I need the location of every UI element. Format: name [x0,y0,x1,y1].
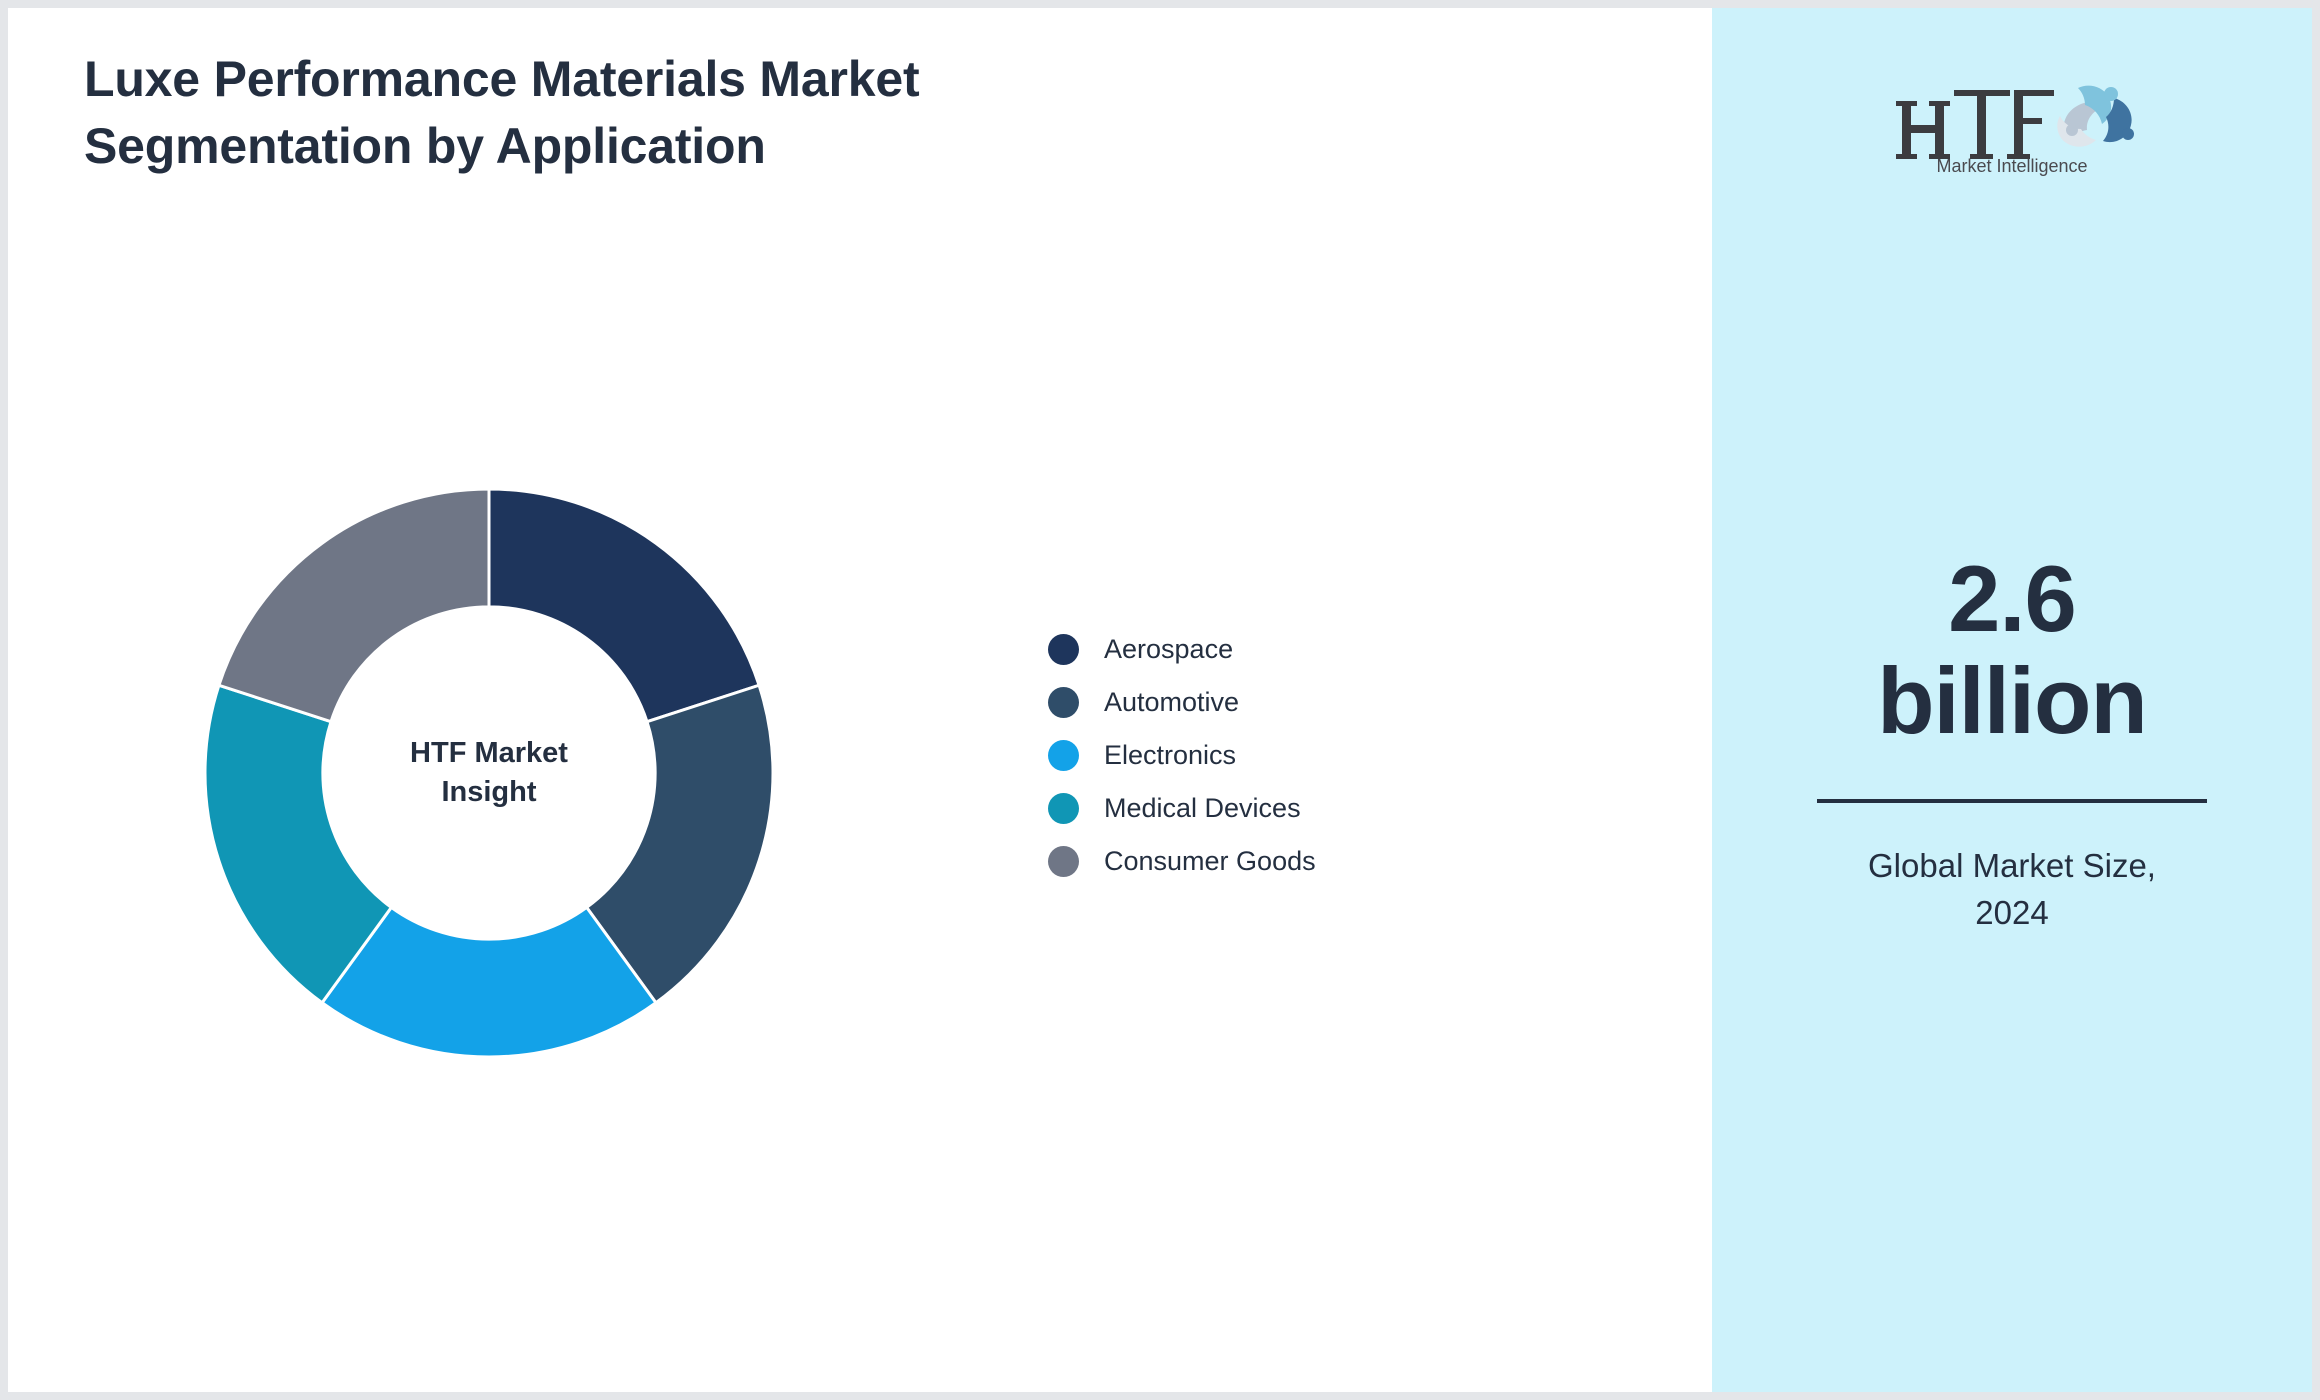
side-panel: Market Intelligence 2.6 billion Global M… [1712,8,2312,1392]
stat-divider [1817,799,2207,803]
logo-block: Market Intelligence [1712,68,2312,178]
legend-item-label: Aerospace [1104,634,1233,665]
main-panel: Luxe Performance Materials Market Segmen… [8,8,1712,1392]
infographic-card: Luxe Performance Materials Market Segmen… [8,8,2312,1392]
htf-wordmark-icon [1896,90,2054,159]
donut-chart-graphic: HTF Market Insight [201,485,777,1061]
legend-swatch-icon [1048,687,1079,718]
legend-item-label: Consumer Goods [1104,846,1316,877]
donut-slices-svg [201,485,777,1061]
legend-swatch-icon [1048,634,1079,665]
donut-slice[interactable] [219,489,489,722]
people-circle-icon [2057,86,2134,147]
legend-item[interactable]: Medical Devices [1048,791,1316,825]
legend-item-label: Electronics [1104,740,1236,771]
legend-item[interactable]: Electronics [1048,738,1316,772]
stat-caption-line1: Global Market Size, [1787,843,2237,890]
legend-item[interactable]: Aerospace [1048,632,1316,666]
legend-item-label: Automotive [1104,687,1239,718]
legend-item[interactable]: Automotive [1048,685,1316,719]
legend-swatch-icon [1048,846,1079,877]
legend-swatch-icon [1048,793,1079,824]
donut-slice[interactable] [489,489,759,722]
stat-value-line2: billion [1787,650,2237,752]
stat-caption-line2: 2024 [1787,890,2237,937]
chart-legend: AerospaceAutomotiveElectronicsMedical De… [1048,632,1316,878]
legend-swatch-icon [1048,740,1079,771]
logo-tagline: Market Intelligence [1936,156,2087,176]
htf-market-intelligence-logo: Market Intelligence [1882,68,2142,178]
legend-item[interactable]: Consumer Goods [1048,844,1316,878]
stat-value-line1: 2.6 [1787,548,2237,650]
stat-value: 2.6 billion [1787,548,2237,751]
legend-item-label: Medical Devices [1104,793,1301,824]
stat-block: 2.6 billion Global Market Size, 2024 [1787,548,2237,937]
donut-chart: HTF Market Insight AerospaceAutomotiveEl… [8,8,1712,1392]
stat-caption: Global Market Size, 2024 [1787,843,2237,937]
